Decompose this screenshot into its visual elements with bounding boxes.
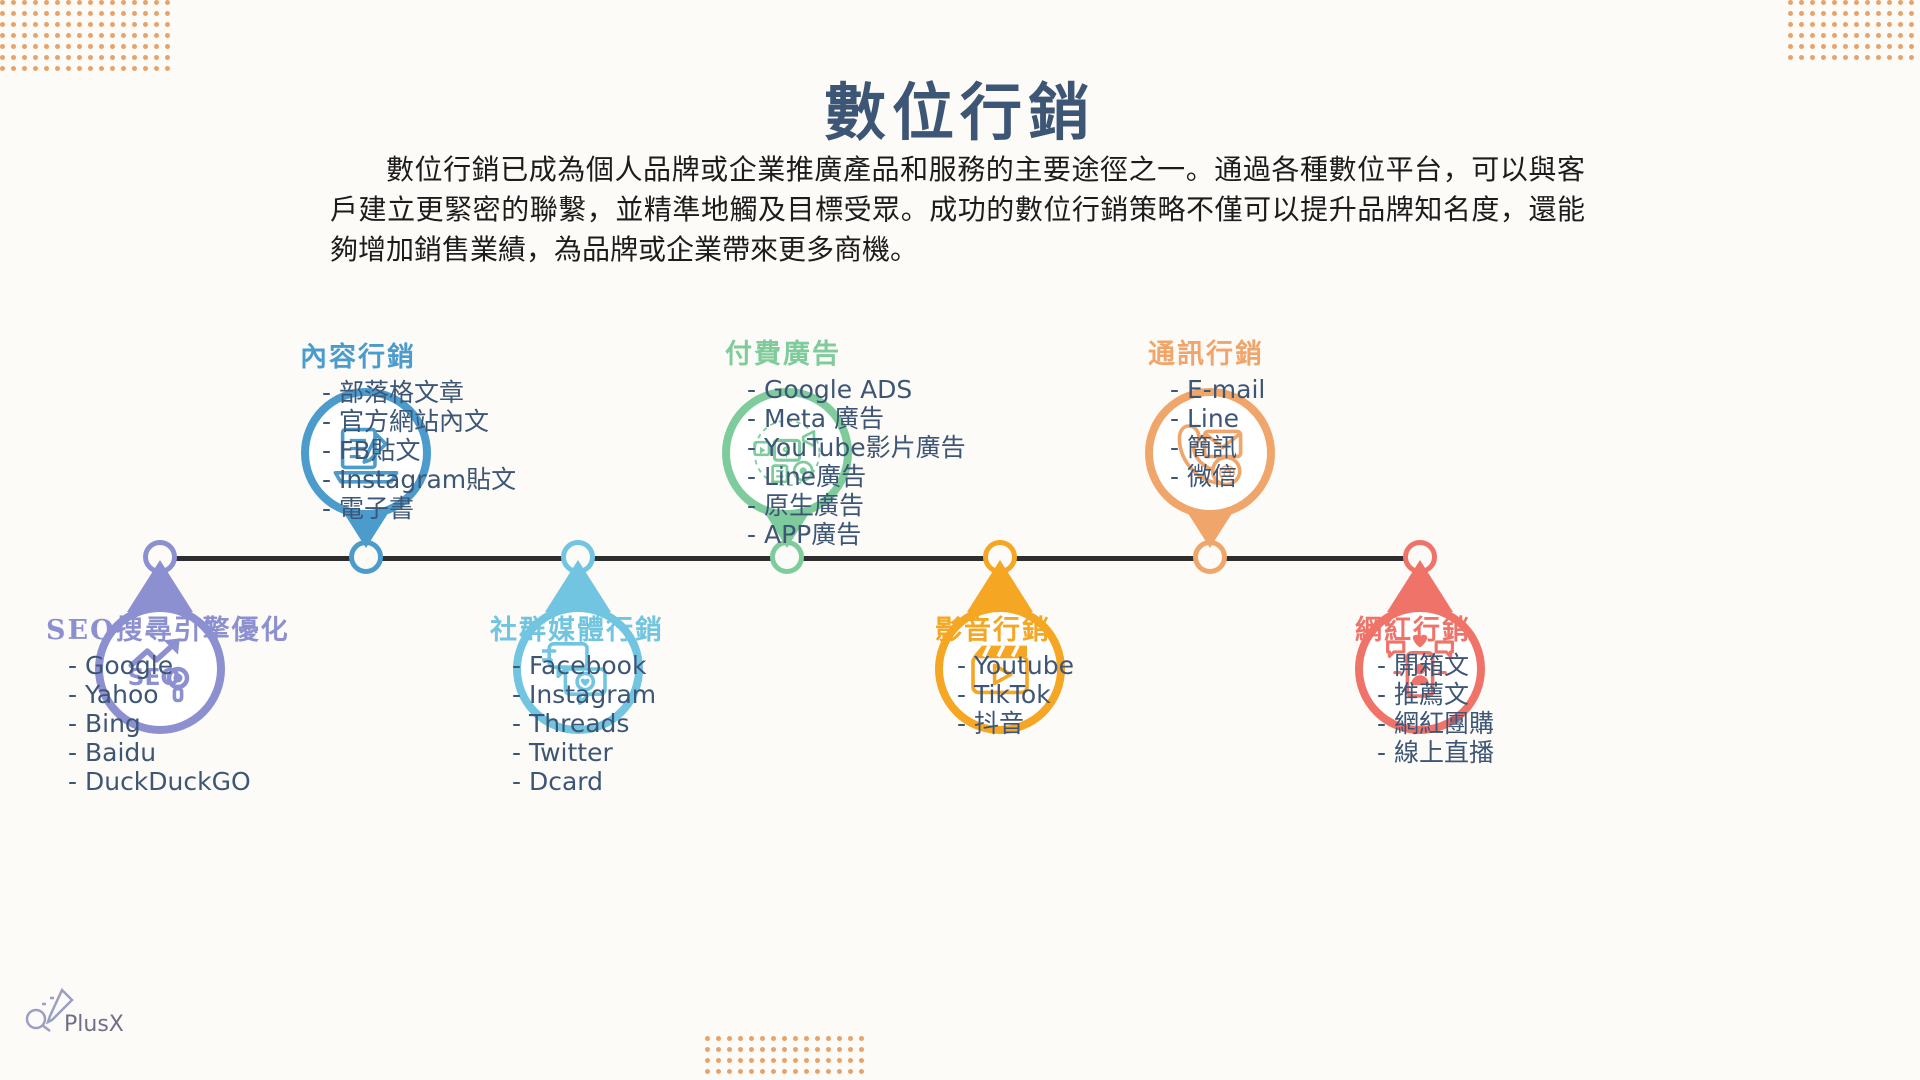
- timeline-heading-seo: SEO搜尋引擎優化: [46, 608, 290, 647]
- list-item: - 部落格文章: [322, 378, 516, 407]
- list-item: - Dcard: [512, 767, 664, 796]
- list-item: - Instagram貼文: [322, 465, 516, 494]
- list-item: - Instagram: [512, 680, 664, 709]
- timeline-heading-social: 社群媒體行銷: [490, 608, 664, 647]
- list-item: - Youtube: [957, 651, 1074, 680]
- list-item: - Bing: [68, 709, 290, 738]
- list-item: - 抖音: [957, 709, 1074, 738]
- timeline-block-social: 社群媒體行銷- Facebook- Instagram- Threads- Tw…: [490, 608, 664, 796]
- list-item: - Twitter: [512, 738, 664, 767]
- list-item: - DuckDuckGO: [68, 767, 290, 796]
- list-item: - Facebook: [512, 651, 664, 680]
- timeline-list-video: - Youtube- TikTok- 抖音: [935, 651, 1074, 738]
- brand-logo: PlusX: [22, 986, 142, 1048]
- timeline-list-influencer: - 開箱文- 推薦文- 網紅團購- 線上直播: [1355, 651, 1494, 767]
- brand-name: PlusX: [64, 1012, 124, 1037]
- list-item: - Line廣告: [747, 462, 966, 491]
- list-item: - 線上直播: [1377, 738, 1494, 767]
- list-item: - 網紅團購: [1377, 709, 1494, 738]
- timeline-heading-video: 影音行銷: [935, 608, 1074, 647]
- timeline-heading-messaging: 通訊行銷: [1148, 332, 1265, 371]
- intro-paragraph: 數位行銷已成為個人品牌或企業推廣產品和服務的主要途徑之一。通過各種數位平台，可以…: [330, 150, 1585, 270]
- list-item: - TikTok: [957, 680, 1074, 709]
- list-item: - APP廣告: [747, 520, 966, 549]
- list-item: - E-mail: [1170, 375, 1265, 404]
- list-item: - Yahoo: [68, 680, 290, 709]
- timeline-list-seo: - Google- Yahoo- Bing- Baidu- DuckDuckGO: [46, 651, 290, 796]
- timeline-block-seo: SEO搜尋引擎優化- Google- Yahoo- Bing- Baidu- D…: [46, 608, 290, 796]
- timeline-list-messaging: - E-mail- Line- 簡訊- 微信: [1148, 375, 1265, 491]
- list-item: - Baidu: [68, 738, 290, 767]
- timeline-block-video: 影音行銷- Youtube- TikTok- 抖音: [935, 608, 1074, 738]
- timeline-heading-content: 內容行銷: [300, 335, 516, 374]
- list-item: - 簡訊: [1170, 433, 1265, 462]
- timeline-list-social: - Facebook- Instagram- Threads- Twitter-…: [490, 651, 664, 796]
- list-item: - 推薦文: [1377, 680, 1494, 709]
- dot-grid-bottom-center: [705, 1036, 870, 1080]
- list-item: - Threads: [512, 709, 664, 738]
- timeline-block-influencer: 網紅行銷- 開箱文- 推薦文- 網紅團購- 線上直播: [1355, 608, 1494, 767]
- list-item: - FB貼文: [322, 436, 516, 465]
- list-item: - Google ADS: [747, 375, 966, 404]
- list-item: - 電子書: [322, 494, 516, 523]
- timeline-block-paid-ads: 付費廣告- Google ADS- Meta 廣告- YouTube影片廣告- …: [725, 332, 966, 549]
- dot-grid-top-right: [1788, 0, 1920, 66]
- list-item: - Line: [1170, 404, 1265, 433]
- list-item: - Google: [68, 651, 290, 680]
- list-item: - 原生廣告: [747, 491, 966, 520]
- list-item: - YouTube影片廣告: [747, 433, 966, 462]
- list-item: - 官方網站內文: [322, 407, 516, 436]
- timeline-block-messaging: 通訊行銷- E-mail- Line- 簡訊- 微信: [1148, 332, 1265, 491]
- list-item: - 開箱文: [1377, 651, 1494, 680]
- list-item: - Meta 廣告: [747, 404, 966, 433]
- page-title: 數位行銷: [0, 62, 1920, 152]
- list-item: - 微信: [1170, 462, 1265, 491]
- timeline-heading-influencer: 網紅行銷: [1355, 608, 1494, 647]
- timeline-list-paid-ads: - Google ADS- Meta 廣告- YouTube影片廣告- Line…: [725, 375, 966, 549]
- timeline-block-content: 內容行銷- 部落格文章- 官方網站內文- FB貼文- Instagram貼文- …: [300, 335, 516, 523]
- timeline-list-content: - 部落格文章- 官方網站內文- FB貼文- Instagram貼文- 電子書: [300, 378, 516, 523]
- timeline-heading-paid-ads: 付費廣告: [725, 332, 966, 371]
